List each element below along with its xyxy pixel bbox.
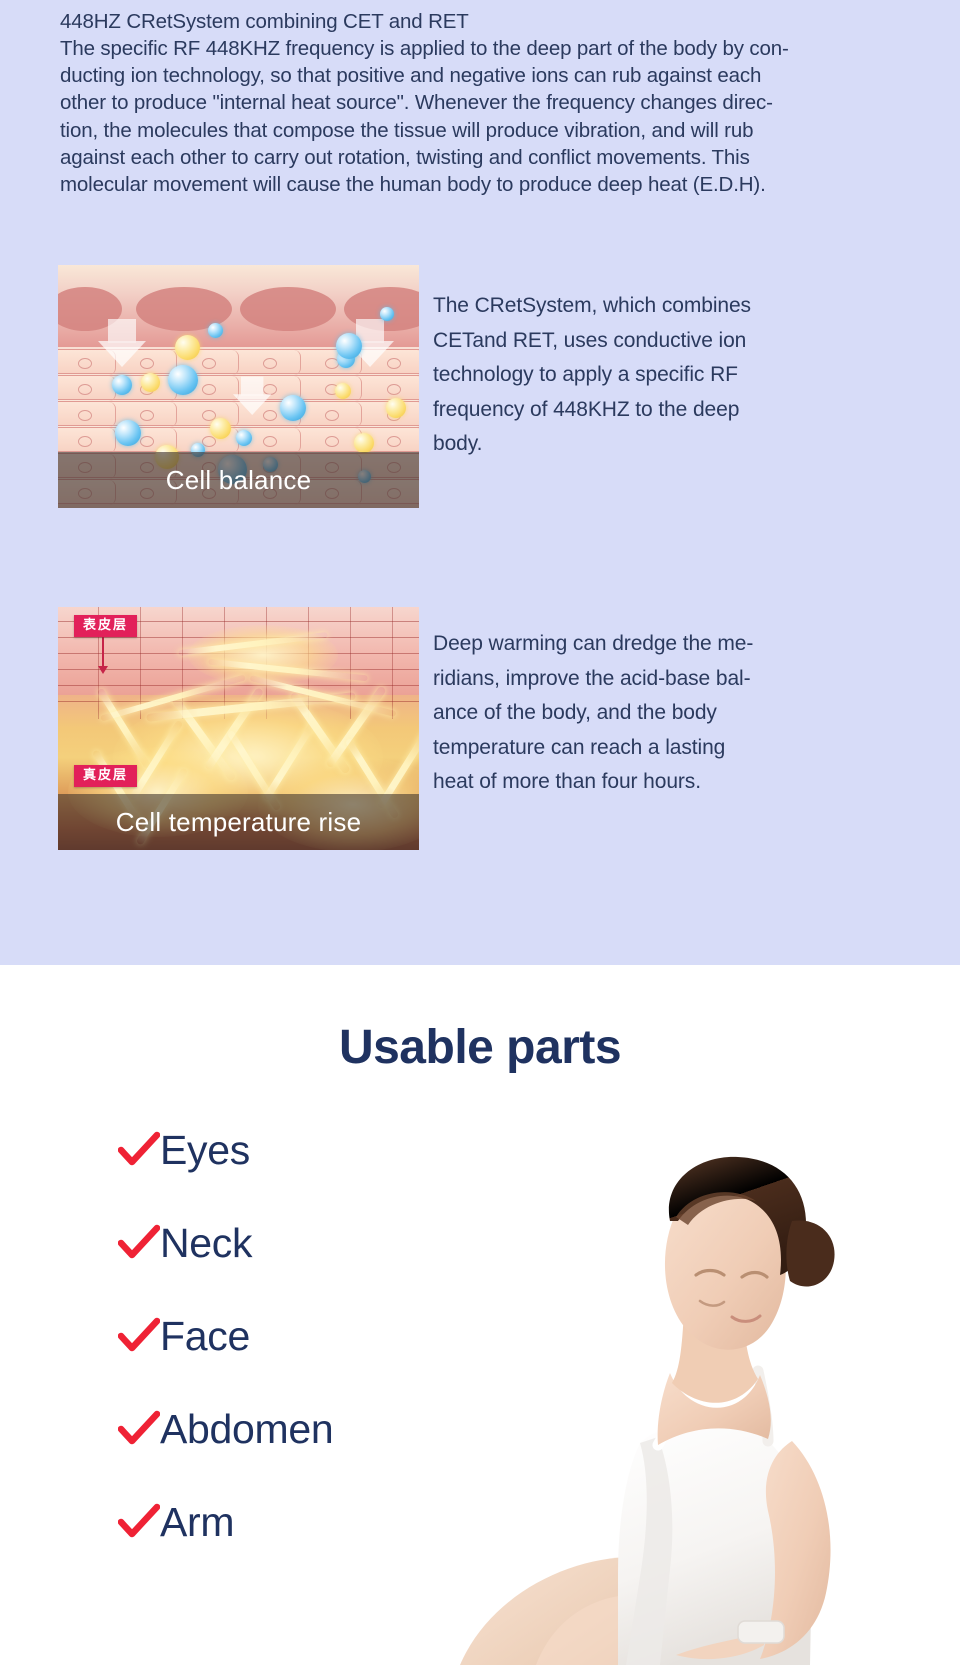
description-line: ridians, improve the acid-base bal- (433, 662, 863, 697)
ion-particle (175, 335, 200, 360)
ion-particle (168, 365, 198, 395)
temperature-rise-illustration: 表皮层 真皮层 Cell temperature rise (58, 607, 419, 850)
ion-particle (115, 420, 141, 446)
temperature-rise-description: Deep warming can dredge the me- ridians,… (433, 627, 863, 800)
feature-row-temperature-rise: 表皮层 真皮层 Cell temperature rise Deep warmi… (0, 607, 960, 852)
cell-balance-description: The CRetSystem, which combines CETand RE… (433, 289, 863, 462)
dermis-label: 真皮层 (74, 765, 137, 787)
description-line: temperature can reach a lasting (433, 731, 863, 766)
model-photo-graphic (340, 1125, 960, 1665)
description-line: frequency of 448KHZ to the deep (433, 393, 863, 428)
ion-particle (210, 418, 231, 439)
usable-part-label: Arm (160, 1502, 234, 1543)
check-icon (118, 1317, 160, 1355)
model-photo (340, 1125, 960, 1665)
ion-particle (236, 430, 252, 446)
usable-parts-title: Usable parts (0, 1020, 960, 1075)
description-line: CETand RET, uses conductive ion (433, 324, 863, 359)
ion-particle (141, 373, 160, 392)
usable-part-label: Face (160, 1316, 250, 1357)
intro-line: against each other to carry out rotation… (60, 144, 900, 171)
ion-particle (208, 323, 223, 338)
description-line: The CRetSystem, which combines (433, 289, 863, 324)
ion-particle (386, 398, 406, 418)
check-icon (118, 1224, 160, 1262)
description-line: ance of the body, and the body (433, 696, 863, 731)
intro-paragraph: The specific RF 448KHZ frequency is appl… (60, 35, 900, 198)
product-detail-page: 448HZ CRetSystem combining CET and RET T… (0, 0, 960, 1665)
ion-particle (335, 383, 351, 399)
intro-line: other to produce "internal heat source".… (60, 89, 900, 116)
ion-particle (380, 307, 394, 321)
cell-balance-caption: Cell balance (58, 452, 419, 508)
intro-line: tion, the molecules that compose the tis… (60, 117, 900, 144)
description-line: technology to apply a specific RF (433, 358, 863, 393)
usable-parts-section: Usable parts Eyes Neck (0, 965, 960, 1665)
check-icon (118, 1410, 160, 1448)
usable-part-label: Eyes (160, 1130, 250, 1171)
feature-row-cell-balance: Cell balance The CRetSystem, which combi… (0, 265, 960, 510)
intro-title: 448HZ CRetSystem combining CET and RET (60, 8, 900, 35)
intro-line: molecular movement will cause the human … (60, 171, 900, 198)
check-icon (118, 1503, 160, 1541)
usable-part-label: Neck (160, 1223, 252, 1264)
intro-line: ducting ion technology, so that positive… (60, 62, 900, 89)
ion-particle (354, 433, 374, 453)
cell-balance-illustration: Cell balance (58, 265, 419, 508)
technology-section: 448HZ CRetSystem combining CET and RET T… (0, 0, 960, 965)
penetration-indicator (102, 637, 104, 667)
ion-particle (112, 375, 132, 395)
intro-line: The specific RF 448KHZ frequency is appl… (60, 35, 900, 62)
usable-part-label: Abdomen (160, 1409, 333, 1450)
temperature-rise-caption: Cell temperature rise (58, 794, 419, 850)
description-line: heat of more than four hours. (433, 765, 863, 800)
intro-block: 448HZ CRetSystem combining CET and RET T… (60, 8, 900, 198)
check-icon (118, 1131, 160, 1169)
ion-particle (336, 333, 362, 359)
description-line: body. (433, 427, 863, 462)
epidermis-label: 表皮层 (74, 615, 137, 637)
ion-particle (280, 395, 306, 421)
description-line: Deep warming can dredge the me- (433, 627, 863, 662)
